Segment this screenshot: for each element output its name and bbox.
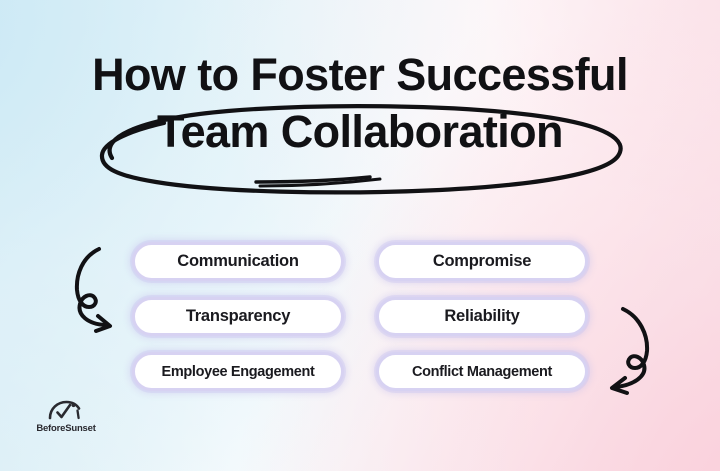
pill-row: Communication Compromise xyxy=(132,242,588,281)
curved-arrow-left xyxy=(68,243,128,343)
brand-logo[interactable]: BeforeSunset xyxy=(28,398,104,434)
page-title: How to Foster Successful Team Collaborat… xyxy=(0,52,720,154)
poster-canvas: How to Foster Successful Team Collaborat… xyxy=(0,0,720,471)
curved-arrow-right xyxy=(598,303,660,403)
pill-employee-engagement[interactable]: Employee Engagement xyxy=(132,352,344,391)
keyword-pill-grid: Communication Compromise Transparency Re… xyxy=(132,242,588,391)
title-line-1: How to Foster Successful xyxy=(0,52,720,97)
curved-arrow-down-left-icon xyxy=(598,303,660,398)
brand-logo-text: BeforeSunset xyxy=(28,423,104,434)
pill-row: Transparency Reliability xyxy=(132,297,588,336)
pill-communication[interactable]: Communication xyxy=(132,242,344,281)
pill-reliability[interactable]: Reliability xyxy=(376,297,588,336)
pill-conflict-management[interactable]: Conflict Management xyxy=(376,352,588,391)
title-line-2: Team Collaboration xyxy=(0,109,720,154)
sunset-arc-check-icon xyxy=(46,398,86,422)
pill-row: Employee Engagement Conflict Management xyxy=(132,352,588,391)
pill-transparency[interactable]: Transparency xyxy=(132,297,344,336)
pill-compromise[interactable]: Compromise xyxy=(376,242,588,281)
curved-arrow-down-right-icon xyxy=(68,243,128,338)
